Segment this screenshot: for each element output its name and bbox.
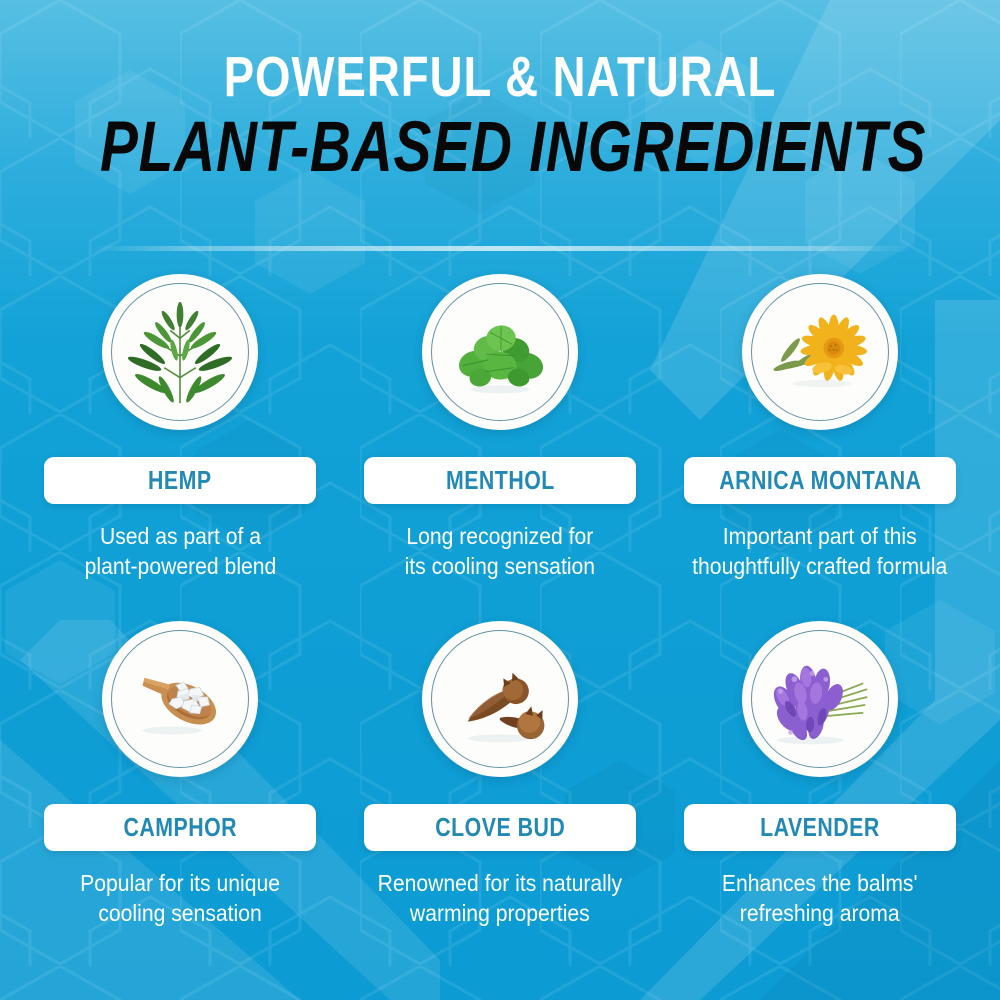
ingredient-name-pill[interactable]: CLOVE BUD: [364, 804, 636, 851]
ingredient-card-menthol: MENTHOL Long recognized for its cooling …: [344, 274, 656, 621]
ingredient-description: Important part of this thoughtfully craf…: [692, 521, 947, 581]
lavender-bunch-icon: [761, 640, 879, 758]
title-divider: [90, 246, 910, 251]
ingredient-description: Enhances the balms' refreshing aroma: [722, 868, 918, 928]
ingredient-badge: [422, 621, 578, 777]
ingredient-description: Used as part of a plant-powered blend: [84, 521, 276, 581]
ingredient-badge: [742, 621, 898, 777]
ingredient-grid: HEMP Used as part of a plant-powered ble…: [24, 274, 976, 968]
ingredient-name: ARNICA MONTANA: [719, 465, 921, 496]
title-line-1: POWERFUL & NATURAL: [100, 46, 900, 108]
mint-leaves-icon: [441, 293, 559, 411]
ingredient-badge: [102, 621, 258, 777]
ingredient-badge: [422, 274, 578, 430]
ingredient-name: LAVENDER: [760, 812, 880, 843]
arnica-flower-icon: [761, 293, 879, 411]
ingredient-name-pill[interactable]: LAVENDER: [684, 804, 956, 851]
page-title: POWERFUL & NATURAL PLANT-BASED INGREDIEN…: [0, 46, 1000, 186]
ingredient-card-arnica-montana: ARNICA MONTANA Important part of this th…: [664, 274, 976, 621]
clove-bud-icon: [441, 640, 559, 758]
ingredient-name: CAMPHOR: [123, 812, 237, 843]
ingredient-name-pill[interactable]: HEMP: [44, 457, 316, 504]
title-line-2: PLANT-BASED INGREDIENTS: [100, 110, 900, 186]
ingredient-name-pill[interactable]: MENTHOL: [364, 457, 636, 504]
infographic-page: POWERFUL & NATURAL PLANT-BASED INGREDIEN…: [0, 0, 1000, 1000]
ingredient-name: CLOVE BUD: [435, 812, 565, 843]
ingredient-card-lavender: LAVENDER Enhances the balms' refreshing …: [664, 621, 976, 968]
hemp-plant-icon: [121, 293, 239, 411]
ingredient-badge: [742, 274, 898, 430]
ingredient-card-camphor: CAMPHOR Popular for its unique cooling s…: [24, 621, 336, 968]
ingredient-badge: [102, 274, 258, 430]
ingredient-name-pill[interactable]: CAMPHOR: [44, 804, 316, 851]
ingredient-description: Long recognized for its cooling sensatio…: [405, 521, 595, 581]
ingredient-name-pill[interactable]: ARNICA MONTANA: [684, 457, 956, 504]
ingredient-name: HEMP: [148, 465, 212, 496]
ingredient-description: Popular for its unique cooling sensation: [80, 868, 280, 928]
ingredient-name: MENTHOL: [446, 465, 555, 496]
camphor-spoon-icon: [121, 640, 239, 758]
ingredient-card-clove-bud: CLOVE BUD Renowned for its naturally war…: [344, 621, 656, 968]
ingredient-description: Renowned for its naturally warming prope…: [378, 868, 623, 928]
ingredient-card-hemp: HEMP Used as part of a plant-powered ble…: [24, 274, 336, 621]
